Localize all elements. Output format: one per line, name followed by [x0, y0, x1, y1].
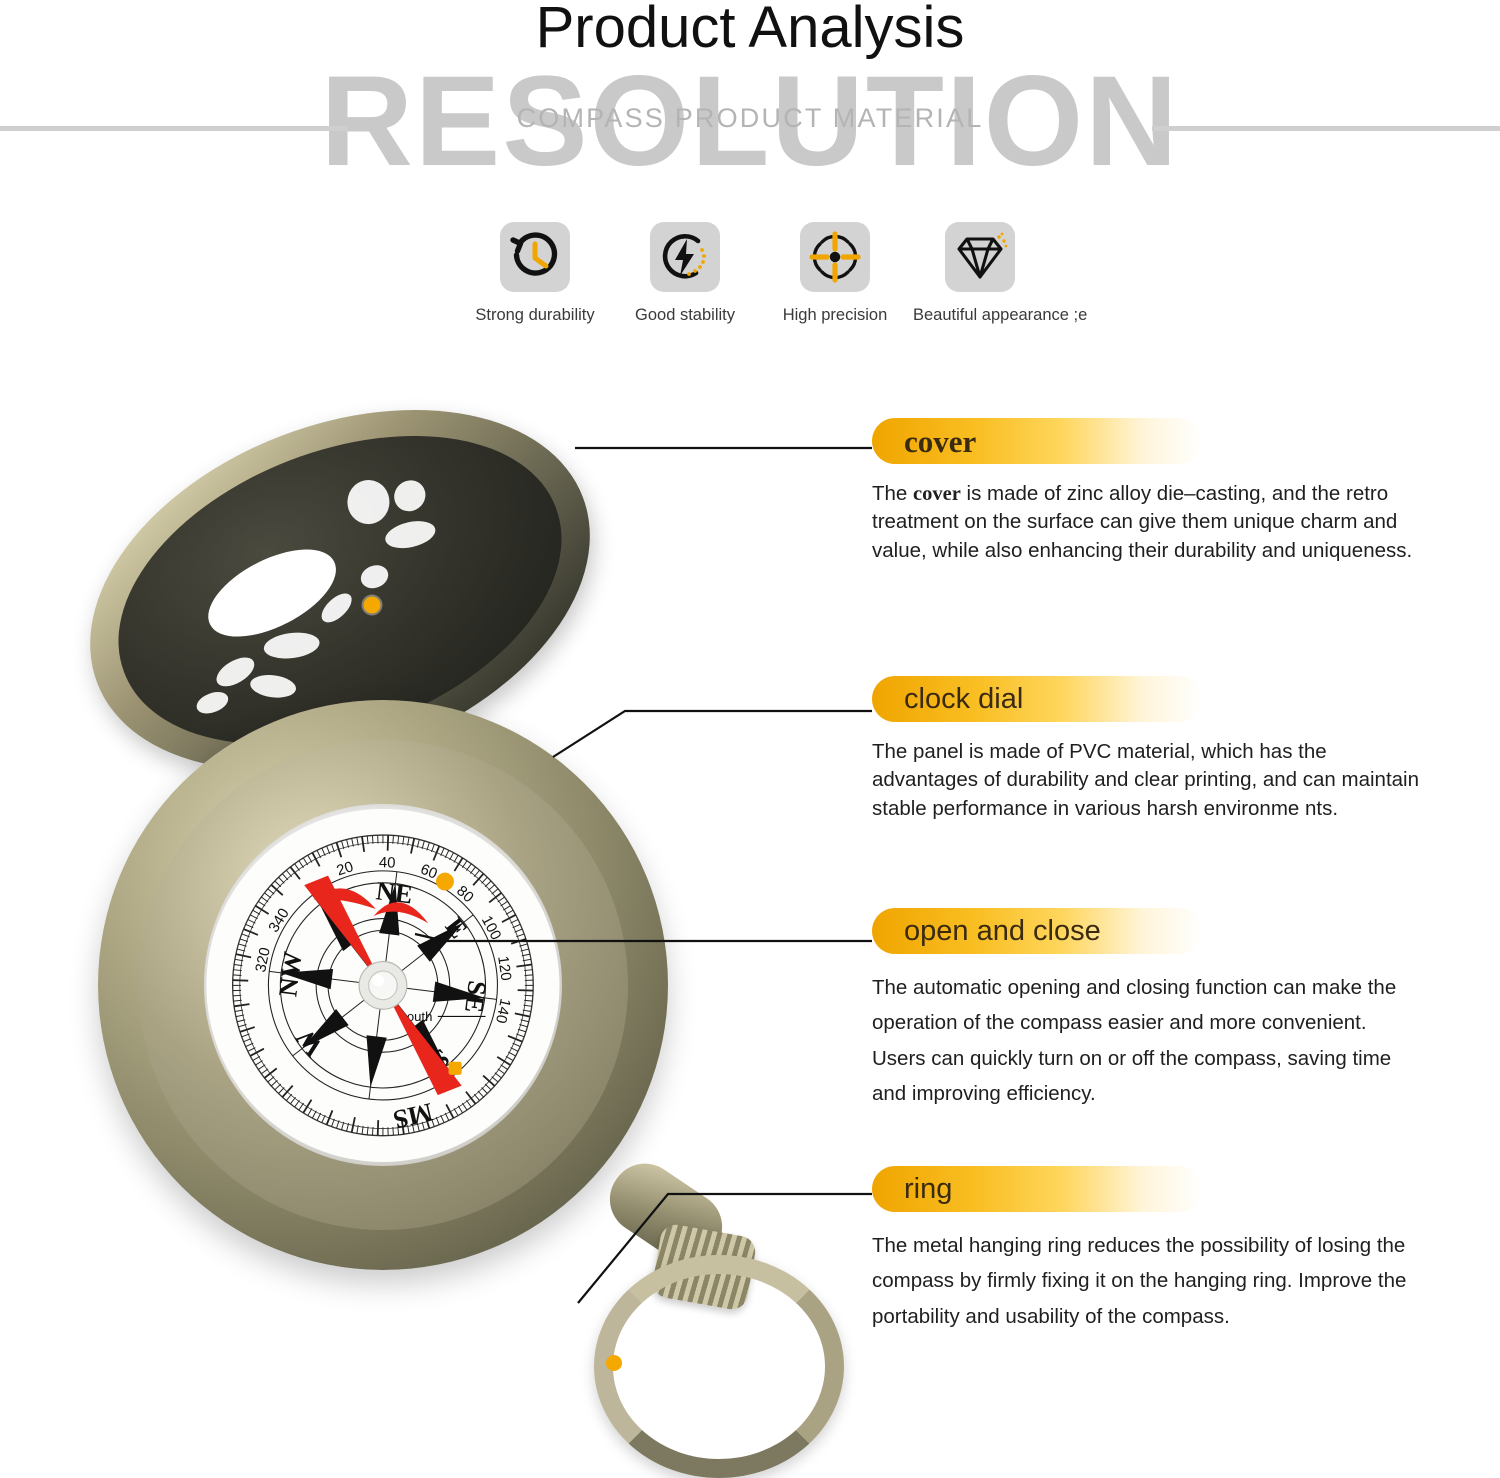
panel-body-clock-dial: The panel is made of PVC material, which…	[872, 738, 1420, 823]
page-header: RESOLUTION Product Analysis COMPASS PROD…	[0, 0, 1500, 200]
page-title: Product Analysis	[536, 0, 965, 60]
product-photo: 20406080100120140320340 NEESESMSWNW	[60, 400, 860, 1410]
feature-item-durability: Strong durability	[465, 222, 605, 325]
body-bold: cover	[913, 483, 961, 505]
panel-ring: ring The metal hanging ring reduces the …	[872, 1166, 1432, 1334]
feature-item-stability: Good stability	[615, 222, 755, 325]
diamond-icon	[945, 222, 1015, 292]
feature-item-appearance: Beautiful appearance ;e	[913, 222, 1113, 325]
compass-case: 20406080100120140320340 NEESESMSWNW	[98, 700, 668, 1270]
badge-clock-dial: clock dial	[872, 676, 1202, 722]
compass-glass: 20406080100120140320340 NEESESMSWNW	[204, 804, 562, 1167]
badge-ring: ring	[872, 1166, 1202, 1212]
feature-item-precision: High precision	[765, 222, 905, 325]
compass-dial: 20406080100120140320340 NEESESMSWNW	[204, 804, 562, 1167]
ring-callout-marker	[606, 1355, 622, 1371]
panel-body-ring: The metal hanging ring reduces the possi…	[872, 1228, 1420, 1334]
feature-label: Strong durability	[465, 306, 605, 325]
panel-body-cover: The cover is made of zinc alloy die–cast…	[872, 480, 1420, 565]
cover-callout-marker	[361, 594, 383, 616]
badge-cover: cover	[872, 418, 1202, 464]
feature-label: Good stability	[615, 306, 755, 325]
panel-cover: cover The cover is made of zinc alloy di…	[872, 418, 1432, 565]
divider-right	[1152, 126, 1500, 131]
badge-label: cover	[872, 426, 976, 457]
body-pre: The	[872, 482, 913, 505]
divider-left	[0, 126, 348, 131]
crosshair-target-icon	[800, 222, 870, 292]
badge-open-and-close: open and close	[872, 908, 1202, 954]
clock-rotate-icon	[500, 222, 570, 292]
svg-text:40: 40	[379, 855, 396, 872]
panel-body-open-and-close: The automatic opening and closing functi…	[872, 970, 1420, 1111]
lightning-bolt-icon	[650, 222, 720, 292]
badge-label: clock dial	[872, 685, 1023, 714]
feature-list: Strong durability Good stability	[465, 222, 1085, 342]
hanging-ring	[594, 1255, 844, 1478]
compass-bezel: 20406080100120140320340 NEESESMSWNW	[138, 740, 628, 1230]
svg-text:SE: SE	[459, 979, 492, 1014]
feature-label: Beautiful appearance ;e	[913, 306, 1113, 325]
panel-open-and-close: open and close The automatic opening and…	[872, 908, 1432, 1111]
page-subtitle: COMPASS PRODUCT MATERIAL	[517, 103, 984, 134]
badge-label: ring	[872, 1175, 952, 1204]
svg-text:NW: NW	[273, 949, 307, 997]
panel-clock-dial: clock dial The panel is made of PVC mate…	[872, 676, 1432, 823]
badge-label: open and close	[872, 917, 1101, 946]
cover-cutout-slot	[195, 531, 349, 653]
feature-label: High precision	[765, 306, 905, 325]
